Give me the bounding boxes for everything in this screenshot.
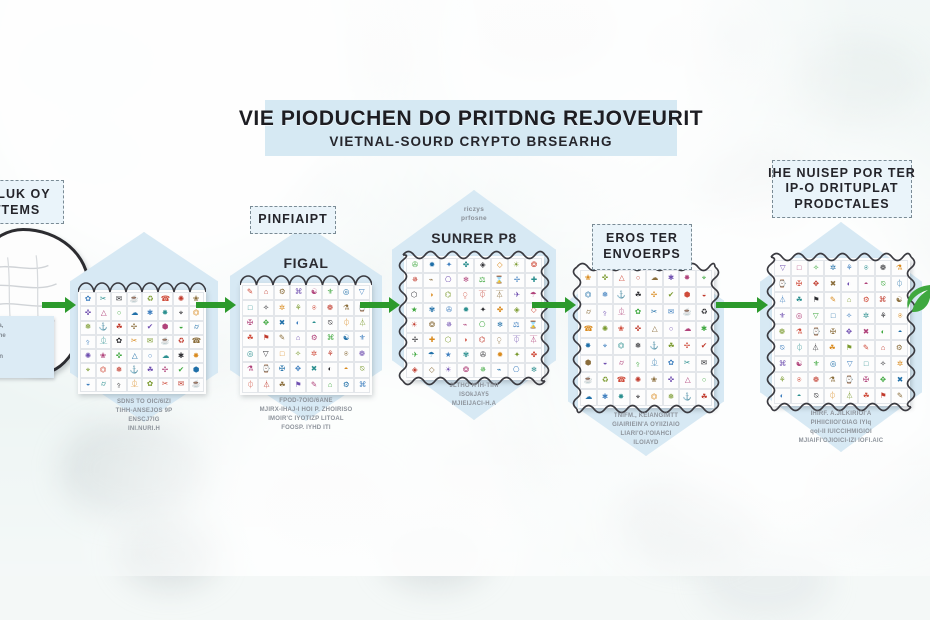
icon-cell[interactable]: ⚗ <box>338 300 354 315</box>
icon-cell[interactable]: ☯ <box>338 331 354 346</box>
icon-cell[interactable]: ○ <box>111 306 127 320</box>
icon-cell[interactable]: ◓ <box>891 324 908 340</box>
icon-cell[interactable]: ☯ <box>791 356 808 372</box>
icon-cell[interactable]: ✠ <box>274 362 290 377</box>
icon-cell[interactable]: ✚ <box>423 333 440 348</box>
icon-cell[interactable]: ◎ <box>824 356 841 372</box>
icon-cell[interactable]: ✂ <box>646 304 663 321</box>
icon-cell[interactable]: ⏂ <box>613 304 630 321</box>
icon-cell[interactable]: ✢ <box>406 333 423 348</box>
icon-cell[interactable]: ✂ <box>679 355 696 372</box>
icon-cell[interactable]: ✂ <box>127 335 143 349</box>
icon-cell[interactable]: ✚ <box>525 273 542 288</box>
icon-cell[interactable]: ⌂ <box>841 292 858 308</box>
icon-cell[interactable]: ▽ <box>258 347 274 362</box>
icon-cell[interactable]: ⬢ <box>158 321 174 335</box>
icon-cell[interactable]: ✧ <box>841 308 858 324</box>
icon-cell[interactable]: ◓ <box>338 362 354 377</box>
icon-cell[interactable]: ⏃ <box>774 292 791 308</box>
icon-cell[interactable]: ⚙ <box>274 285 290 300</box>
icon-cell[interactable]: ✿ <box>80 292 96 306</box>
icon-cell[interactable]: ⍉ <box>354 362 370 377</box>
icon-cell[interactable]: ✎ <box>824 292 841 308</box>
icon-cell[interactable]: ❄ <box>525 363 542 378</box>
icon-cell[interactable]: ✹ <box>423 258 440 273</box>
icon-cell[interactable]: ○ <box>630 270 647 287</box>
icon-cell[interactable]: ◐ <box>290 316 306 331</box>
icon-cell[interactable]: ⍟ <box>791 372 808 388</box>
icon-cell[interactable]: ⏄ <box>525 333 542 348</box>
icon-cell[interactable]: ◒ <box>173 321 189 335</box>
icon-cell[interactable]: ☘ <box>630 287 647 304</box>
icon-cell[interactable]: ☀ <box>508 258 525 273</box>
stage-3-icon-card[interactable]: ✇✹✦✤◈◇☀❂✵⌁⎔❄⚖⌛✢✚⬡◑⌬⍜⏁⏄✈☂★✾✇✹✦✤◈◇☀❂✵⌁⎔❄⚖⌛… <box>404 256 544 380</box>
icon-cell[interactable]: ✔ <box>696 338 713 355</box>
icon-cell[interactable]: ☀ <box>406 318 423 333</box>
icon-cell[interactable]: ⌂ <box>322 378 338 393</box>
icon-cell[interactable]: ✵ <box>406 273 423 288</box>
icon-cell[interactable]: ☕ <box>580 372 597 389</box>
icon-cell[interactable]: ❀ <box>96 349 112 363</box>
icon-cell[interactable]: ☯ <box>306 285 322 300</box>
icon-cell[interactable]: ✢ <box>508 273 525 288</box>
icon-cell[interactable]: □ <box>824 308 841 324</box>
icon-cell[interactable]: ◈ <box>406 363 423 378</box>
icon-cell[interactable]: ✜ <box>80 306 96 320</box>
icon-cell[interactable]: ⏀ <box>242 378 258 393</box>
icon-cell[interactable]: ◒ <box>597 355 614 372</box>
icon-cell[interactable]: ❀ <box>646 372 663 389</box>
icon-cell[interactable]: ♻ <box>597 372 614 389</box>
icon-cell[interactable]: ▽ <box>774 260 791 276</box>
icon-cell[interactable]: ⌁ <box>491 363 508 378</box>
icon-cell[interactable]: ✥ <box>808 276 825 292</box>
icon-cell[interactable]: ☕ <box>189 378 205 392</box>
icon-cell[interactable]: ☘ <box>696 389 713 406</box>
icon-cell[interactable]: ⎔ <box>474 318 491 333</box>
icon-cell[interactable]: ✦ <box>508 348 525 363</box>
icon-cell[interactable]: ◈ <box>508 303 525 318</box>
icon-cell[interactable]: ⏂ <box>127 378 143 392</box>
icon-cell[interactable]: ⏁ <box>474 288 491 303</box>
icon-cell[interactable]: ⚓ <box>127 363 143 377</box>
icon-cell[interactable]: ✜ <box>630 321 647 338</box>
icon-cell[interactable]: ✤ <box>525 348 542 363</box>
icon-cell[interactable]: ✎ <box>858 340 875 356</box>
icon-cell[interactable]: ✠ <box>858 372 875 388</box>
icon-cell[interactable]: ⚖ <box>508 318 525 333</box>
icon-cell[interactable]: ♻ <box>142 292 158 306</box>
icon-cell[interactable]: ⏃ <box>354 316 370 331</box>
icon-cell[interactable]: ✇ <box>406 258 423 273</box>
icon-cell[interactable]: ✱ <box>173 349 189 363</box>
icon-cell[interactable]: ⌭ <box>96 378 112 392</box>
icon-cell[interactable]: □ <box>242 300 258 315</box>
icon-cell[interactable]: ☁ <box>580 389 597 406</box>
icon-cell[interactable]: ⌘ <box>774 356 791 372</box>
icon-cell[interactable]: ❅ <box>80 321 96 335</box>
icon-cell[interactable]: ⌂ <box>258 285 274 300</box>
icon-cell[interactable]: △ <box>613 270 630 287</box>
icon-cell[interactable]: ⍉ <box>322 316 338 331</box>
icon-cell[interactable]: ✿ <box>142 378 158 392</box>
icon-cell[interactable]: ○ <box>663 321 680 338</box>
icon-cell[interactable]: ☕ <box>127 292 143 306</box>
icon-cell[interactable]: ⬡ <box>440 333 457 348</box>
icon-cell[interactable]: ✸ <box>189 349 205 363</box>
icon-cell[interactable]: ▽ <box>808 308 825 324</box>
icon-cell[interactable]: ✇ <box>440 303 457 318</box>
icon-cell[interactable]: ✹ <box>491 348 508 363</box>
icon-cell[interactable]: ♻ <box>173 335 189 349</box>
icon-cell[interactable]: ✱ <box>142 306 158 320</box>
icon-cell[interactable]: ✧ <box>875 356 892 372</box>
icon-cell[interactable]: ◎ <box>338 285 354 300</box>
icon-cell[interactable]: ✱ <box>597 389 614 406</box>
icon-cell[interactable]: ⍚ <box>111 378 127 392</box>
icon-cell[interactable]: ⚜ <box>774 308 791 324</box>
icon-cell[interactable]: ✣ <box>679 338 696 355</box>
icon-cell[interactable]: ✥ <box>875 372 892 388</box>
icon-cell[interactable]: ☘ <box>791 292 808 308</box>
icon-cell[interactable]: ☘ <box>242 331 258 346</box>
icon-cell[interactable]: ⬢ <box>189 363 205 377</box>
icon-cell[interactable]: ✉ <box>663 304 680 321</box>
icon-cell[interactable]: ⚗ <box>824 372 841 388</box>
icon-cell[interactable]: ❁ <box>808 372 825 388</box>
icon-cell[interactable]: ⚜ <box>808 356 825 372</box>
icon-cell[interactable]: ⚙ <box>306 331 322 346</box>
icon-cell[interactable]: ⌖ <box>696 270 713 287</box>
icon-cell[interactable]: ◒ <box>80 378 96 392</box>
icon-cell[interactable]: ✲ <box>274 300 290 315</box>
icon-cell[interactable]: ☕ <box>679 304 696 321</box>
icon-cell[interactable]: ⚘ <box>322 347 338 362</box>
icon-cell[interactable]: ⌛ <box>491 273 508 288</box>
icon-cell[interactable]: ⌚ <box>808 324 825 340</box>
icon-cell[interactable]: ⏣ <box>646 389 663 406</box>
icon-cell[interactable]: ✠ <box>824 324 841 340</box>
icon-cell[interactable]: ✔ <box>142 321 158 335</box>
icon-cell[interactable]: ⏃ <box>258 378 274 393</box>
icon-cell[interactable]: ✎ <box>274 331 290 346</box>
icon-cell[interactable]: ◓ <box>858 276 875 292</box>
icon-cell[interactable]: ♻ <box>696 304 713 321</box>
icon-cell[interactable]: ✉ <box>142 335 158 349</box>
icon-cell[interactable]: ✸ <box>580 338 597 355</box>
icon-cell[interactable]: ✖ <box>824 276 841 292</box>
icon-cell[interactable]: ✜ <box>597 270 614 287</box>
icon-cell[interactable]: ⌖ <box>630 389 647 406</box>
icon-cell[interactable]: ☘ <box>111 321 127 335</box>
icon-cell[interactable]: ✠ <box>791 276 808 292</box>
icon-cell[interactable]: ⎔ <box>440 273 457 288</box>
icon-cell[interactable]: ⌂ <box>290 331 306 346</box>
icon-cell[interactable]: ▽ <box>841 356 858 372</box>
icon-cell[interactable]: ⍉ <box>774 340 791 356</box>
icon-cell[interactable]: ⍚ <box>80 335 96 349</box>
icon-cell[interactable]: ❀ <box>613 321 630 338</box>
stage-4[interactable]: ❀✜△○☁✱✸⌖⏣❅⚓☘✣✔⬢◒⌭⍚⏂✿✂✉☕♻☎✺❀✜△○☁✱✸⌖⏣❅⚓☘✣✔… <box>568 246 724 456</box>
icon-cell[interactable]: ✧ <box>808 260 825 276</box>
icon-cell[interactable]: ✖ <box>858 324 875 340</box>
icon-cell[interactable]: ◇ <box>491 258 508 273</box>
icon-cell[interactable]: ⍉ <box>875 276 892 292</box>
stage-2-icon-card[interactable]: ✎⌂⚙⌘☯⚜◎▽□✧✲⚘⍟❁⚗⌚✠✥✖◐◓⍉⏀⏃☘⚑✎⌂⚙⌘☯⚜◎▽□✧✲⚘⍟❁… <box>240 283 372 395</box>
icon-cell[interactable]: ❀ <box>580 270 597 287</box>
icon-cell[interactable]: ⌖ <box>597 338 614 355</box>
icon-cell[interactable]: ☂ <box>423 348 440 363</box>
icon-cell[interactable]: ✜ <box>663 372 680 389</box>
icon-cell[interactable]: ⚓ <box>96 321 112 335</box>
icon-cell[interactable]: ✵ <box>474 363 491 378</box>
icon-cell[interactable]: ✺ <box>80 349 96 363</box>
icon-cell[interactable]: □ <box>274 347 290 362</box>
icon-cell[interactable]: ✵ <box>440 318 457 333</box>
icon-cell[interactable]: ⌚ <box>258 362 274 377</box>
icon-cell[interactable]: ⚖ <box>474 273 491 288</box>
icon-cell[interactable]: ☎ <box>189 335 205 349</box>
icon-cell[interactable]: ⌚ <box>841 372 858 388</box>
icon-cell[interactable]: ⏣ <box>613 338 630 355</box>
icon-cell[interactable]: ⚘ <box>290 300 306 315</box>
icon-cell[interactable]: ⌛ <box>525 318 542 333</box>
icon-cell[interactable]: ⌖ <box>80 363 96 377</box>
icon-cell[interactable]: ◐ <box>322 362 338 377</box>
icon-cell[interactable]: ⍟ <box>306 300 322 315</box>
icon-cell[interactable]: ⌭ <box>189 321 205 335</box>
icon-cell[interactable]: ✾ <box>423 303 440 318</box>
icon-cell[interactable]: ◈ <box>474 258 491 273</box>
icon-cell[interactable]: ⚘ <box>841 260 858 276</box>
icon-cell[interactable]: ✎ <box>306 378 322 393</box>
icon-cell[interactable]: ✥ <box>290 362 306 377</box>
icon-cell[interactable]: ✔ <box>173 363 189 377</box>
icon-cell[interactable]: ⏀ <box>338 316 354 331</box>
stage-1[interactable]: ✿✂✉☕♻☎✺❀✜△○☁✱✸⌖⏣❅⚓☘✣✔⬢◒⌭⍚⏂✿✂✉☕♻☎✺❀✜△○☁✱✸… <box>70 232 218 422</box>
icon-cell[interactable]: ⚗ <box>891 260 908 276</box>
icon-cell[interactable]: ⌂ <box>875 340 892 356</box>
icon-cell[interactable]: ⌘ <box>322 331 338 346</box>
icon-cell[interactable]: ⌖ <box>173 306 189 320</box>
icon-cell[interactable]: ◎ <box>791 308 808 324</box>
icon-cell[interactable]: ⍟ <box>858 260 875 276</box>
icon-cell[interactable]: ✦ <box>440 258 457 273</box>
icon-cell[interactable]: △ <box>96 306 112 320</box>
icon-cell[interactable]: ❅ <box>111 363 127 377</box>
icon-cell[interactable]: ⍚ <box>630 355 647 372</box>
icon-cell[interactable]: ⚓ <box>646 338 663 355</box>
icon-cell[interactable]: ⚑ <box>808 292 825 308</box>
stage-4-icon-card[interactable]: ❀✜△○☁✱✸⌖⏣❅⚓☘✣✔⬢◒⌭⍚⏂✿✂✉☕♻☎✺❀✜△○☁✱✸⌖⏣❅⚓☘✣✔… <box>578 268 714 408</box>
icon-cell[interactable]: ⍉ <box>808 388 825 404</box>
icon-cell[interactable]: ⌭ <box>613 355 630 372</box>
icon-cell[interactable]: ⍟ <box>338 347 354 362</box>
icon-cell[interactable]: ⚗ <box>242 362 258 377</box>
icon-cell[interactable]: ⌭ <box>580 304 597 321</box>
icon-cell[interactable]: ✺ <box>597 321 614 338</box>
icon-cell[interactable]: ✎ <box>242 285 258 300</box>
icon-cell[interactable]: ✖ <box>274 316 290 331</box>
icon-cell[interactable]: ⌚ <box>774 276 791 292</box>
icon-cell[interactable]: ❁ <box>774 324 791 340</box>
icon-cell[interactable]: ⌁ <box>457 318 474 333</box>
icon-cell[interactable]: ◇ <box>423 363 440 378</box>
icon-cell[interactable]: ✦ <box>474 303 491 318</box>
stage-1-icon-card[interactable]: ✿✂✉☕♻☎✺❀✜△○☁✱✸⌖⏣❅⚓☘✣✔⬢◒⌭⍚⏂✿✂✉☕♻☎✺❀✜△○☁✱✸… <box>78 290 206 394</box>
icon-cell[interactable]: ✖ <box>306 362 322 377</box>
icon-cell[interactable]: ☕ <box>158 335 174 349</box>
icon-cell[interactable]: ❅ <box>663 389 680 406</box>
icon-cell[interactable]: △ <box>127 349 143 363</box>
icon-cell[interactable]: ⏂ <box>646 355 663 372</box>
icon-cell[interactable]: ⚑ <box>875 388 892 404</box>
icon-cell[interactable]: ✺ <box>630 372 647 389</box>
icon-cell[interactable]: ◒ <box>696 287 713 304</box>
icon-cell[interactable]: ❅ <box>597 287 614 304</box>
stage-5-icon-card[interactable]: ▽□✧✲⚘⍟❁⚗⌚✠✥✖◐◓⍉⏀⏃☘⚑✎⌂⚙⌘☯⚜◎▽□✧✲⚘⍟❁⚗⌚✠✥✖◐◓… <box>772 258 910 406</box>
icon-cell[interactable]: ⏣ <box>96 363 112 377</box>
icon-cell[interactable]: □ <box>858 356 875 372</box>
icon-cell[interactable]: ☁ <box>127 306 143 320</box>
icon-cell[interactable]: ◐ <box>875 324 892 340</box>
icon-cell[interactable]: ⚑ <box>290 378 306 393</box>
icon-cell[interactable]: ⬢ <box>679 287 696 304</box>
icon-cell[interactable]: ⚗ <box>791 324 808 340</box>
icon-cell[interactable]: ⌘ <box>875 292 892 308</box>
icon-cell[interactable]: ⌘ <box>290 285 306 300</box>
icon-cell[interactable]: ✸ <box>679 270 696 287</box>
icon-cell[interactable]: ✣ <box>127 321 143 335</box>
icon-cell[interactable]: ⌬ <box>440 288 457 303</box>
icon-cell[interactable]: ☘ <box>663 338 680 355</box>
icon-cell[interactable]: ✱ <box>663 270 680 287</box>
icon-cell[interactable]: ☘ <box>858 388 875 404</box>
icon-cell[interactable]: ☘ <box>274 378 290 393</box>
icon-cell[interactable]: ⏀ <box>791 340 808 356</box>
icon-cell[interactable]: ✠ <box>242 316 258 331</box>
icon-cell[interactable]: ⚘ <box>875 308 892 324</box>
icon-cell[interactable]: ❁ <box>875 260 892 276</box>
icon-cell[interactable]: ★ <box>406 303 423 318</box>
icon-cell[interactable]: ❁ <box>322 300 338 315</box>
icon-cell[interactable]: ❄ <box>457 273 474 288</box>
icon-cell[interactable]: ☀ <box>440 363 457 378</box>
icon-cell[interactable]: ✲ <box>858 308 875 324</box>
icon-cell[interactable]: ⌘ <box>354 378 370 393</box>
icon-cell[interactable]: ⚙ <box>338 378 354 393</box>
icon-cell[interactable]: ❁ <box>354 347 370 362</box>
icon-cell[interactable]: ✉ <box>173 378 189 392</box>
icon-cell[interactable]: ❅ <box>630 338 647 355</box>
icon-cell[interactable]: ⚙ <box>891 340 908 356</box>
icon-cell[interactable]: ⏣ <box>580 287 597 304</box>
icon-cell[interactable]: ◎ <box>242 347 258 362</box>
icon-cell[interactable]: ✔ <box>663 287 680 304</box>
icon-cell[interactable]: ✺ <box>173 292 189 306</box>
icon-cell[interactable]: ⚓ <box>679 389 696 406</box>
icon-cell[interactable]: ⚑ <box>841 340 858 356</box>
icon-cell[interactable]: ✥ <box>258 316 274 331</box>
icon-cell[interactable]: ✤ <box>457 258 474 273</box>
icon-cell[interactable]: ☘ <box>142 363 158 377</box>
icon-cell[interactable]: ◐ <box>774 388 791 404</box>
icon-cell[interactable]: ✂ <box>158 378 174 392</box>
icon-cell[interactable]: ✿ <box>663 355 680 372</box>
icon-cell[interactable]: ⍜ <box>491 333 508 348</box>
icon-cell[interactable]: ✲ <box>824 260 841 276</box>
icon-cell[interactable]: ⚜ <box>322 285 338 300</box>
icon-cell[interactable]: ⏃ <box>808 340 825 356</box>
icon-cell[interactable]: □ <box>791 260 808 276</box>
icon-cell[interactable]: ✧ <box>258 300 274 315</box>
icon-cell[interactable]: ★ <box>440 348 457 363</box>
icon-cell[interactable]: △ <box>679 372 696 389</box>
icon-cell[interactable]: ☁ <box>679 321 696 338</box>
icon-cell[interactable]: ⚜ <box>354 331 370 346</box>
icon-cell[interactable]: ⏄ <box>491 288 508 303</box>
icon-cell[interactable]: ✲ <box>891 356 908 372</box>
icon-cell[interactable]: ✣ <box>158 363 174 377</box>
icon-cell[interactable]: ✈ <box>406 348 423 363</box>
icon-cell[interactable]: ⚓ <box>613 287 630 304</box>
icon-cell[interactable]: ⏁ <box>508 333 525 348</box>
icon-cell[interactable]: ⬡ <box>406 288 423 303</box>
icon-cell[interactable]: ⚑ <box>258 331 274 346</box>
icon-cell[interactable]: ✈ <box>508 288 525 303</box>
icon-cell[interactable]: ⏂ <box>96 335 112 349</box>
icon-cell[interactable]: ⌬ <box>474 333 491 348</box>
icon-cell[interactable]: ◐ <box>841 276 858 292</box>
icon-cell[interactable]: ✖ <box>891 372 908 388</box>
icon-cell[interactable]: ✾ <box>457 348 474 363</box>
icon-cell[interactable]: ⬢ <box>580 355 597 372</box>
icon-cell[interactable]: ✉ <box>111 292 127 306</box>
icon-cell[interactable]: ☎ <box>613 372 630 389</box>
icon-cell[interactable]: ✸ <box>158 306 174 320</box>
icon-cell[interactable]: △ <box>646 321 663 338</box>
icon-cell[interactable]: ✂ <box>96 292 112 306</box>
icon-cell[interactable]: ◓ <box>791 388 808 404</box>
icon-cell[interactable]: ✿ <box>630 304 647 321</box>
icon-cell[interactable]: ☎ <box>580 321 597 338</box>
icon-cell[interactable]: ⚙ <box>858 292 875 308</box>
icon-cell[interactable]: ❂ <box>457 363 474 378</box>
icon-cell[interactable]: ○ <box>142 349 158 363</box>
icon-cell[interactable]: ✎ <box>891 388 908 404</box>
icon-cell[interactable]: ✹ <box>457 303 474 318</box>
icon-cell[interactable]: ❄ <box>491 318 508 333</box>
icon-cell[interactable]: ⎔ <box>508 363 525 378</box>
icon-cell[interactable]: ✣ <box>646 287 663 304</box>
icon-cell[interactable]: ⍜ <box>457 288 474 303</box>
stage-5[interactable]: ▽□✧✲⚘⍟❁⚗⌚✠✥✖◐◓⍉⏀⏃☘⚑✎⌂⚙⌘☯⚜◎▽□✧✲⚘⍟❁⚗⌚✠✥✖◐◓… <box>760 222 922 452</box>
icon-cell[interactable]: ✱ <box>696 321 713 338</box>
icon-cell[interactable]: ✲ <box>306 347 322 362</box>
icon-cell[interactable]: ◑ <box>423 288 440 303</box>
icon-cell[interactable]: ✥ <box>841 324 858 340</box>
icon-cell[interactable]: ○ <box>696 372 713 389</box>
icon-cell[interactable]: ⍚ <box>597 304 614 321</box>
icon-cell[interactable]: ✤ <box>491 303 508 318</box>
icon-cell[interactable]: ✿ <box>111 335 127 349</box>
icon-cell[interactable]: ☘ <box>824 340 841 356</box>
icon-cell[interactable]: ⌁ <box>423 273 440 288</box>
icon-cell[interactable]: ☁ <box>158 349 174 363</box>
stage-2[interactable]: FIGAL✎⌂⚙⌘☯⚜◎▽□✧✲⚘⍟❁⚗⌚✠✥✖◐◓⍉⏀⏃☘⚑✎⌂⚙⌘☯⚜◎▽□… <box>230 225 382 421</box>
icon-cell[interactable]: ✇ <box>474 348 491 363</box>
icon-cell[interactable]: ❂ <box>423 318 440 333</box>
